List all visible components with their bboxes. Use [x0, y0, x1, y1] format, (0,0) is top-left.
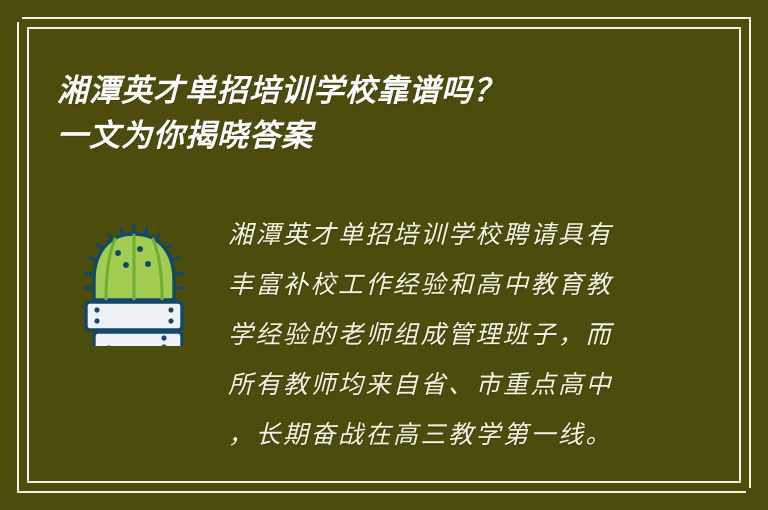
title-line-1: 湘潭英才单招培训学校靠谱吗？ — [57, 68, 697, 113]
body-paragraph: 湘潭英才单招培训学校聘请具有 丰富补校工作经验和高中教育教 学经验的老师组成管理… — [228, 210, 648, 460]
body-line: 所有教师均来自省、市重点高中 — [228, 360, 648, 410]
cactus-icon — [78, 220, 190, 346]
frame-gap-bottom-right — [746, 488, 768, 510]
frame-gap-top-left — [0, 0, 22, 22]
body-line: 学经验的老师组成管理班子，而 — [228, 310, 648, 360]
body-line: 湘潭英才单招培训学校聘请具有 — [228, 210, 648, 260]
page-title: 湘潭英才单招培训学校靠谱吗？ 一文为你揭晓答案 — [57, 68, 697, 158]
body-line: 丰富补校工作经验和高中教育教 — [228, 260, 648, 310]
title-line-2: 一文为你揭晓答案 — [57, 113, 697, 158]
body-line: ，长期奋战在高三教学第一线。 — [228, 410, 648, 460]
poster-canvas: 湘潭英才单招培训学校靠谱吗？ 一文为你揭晓答案 — [0, 0, 768, 510]
